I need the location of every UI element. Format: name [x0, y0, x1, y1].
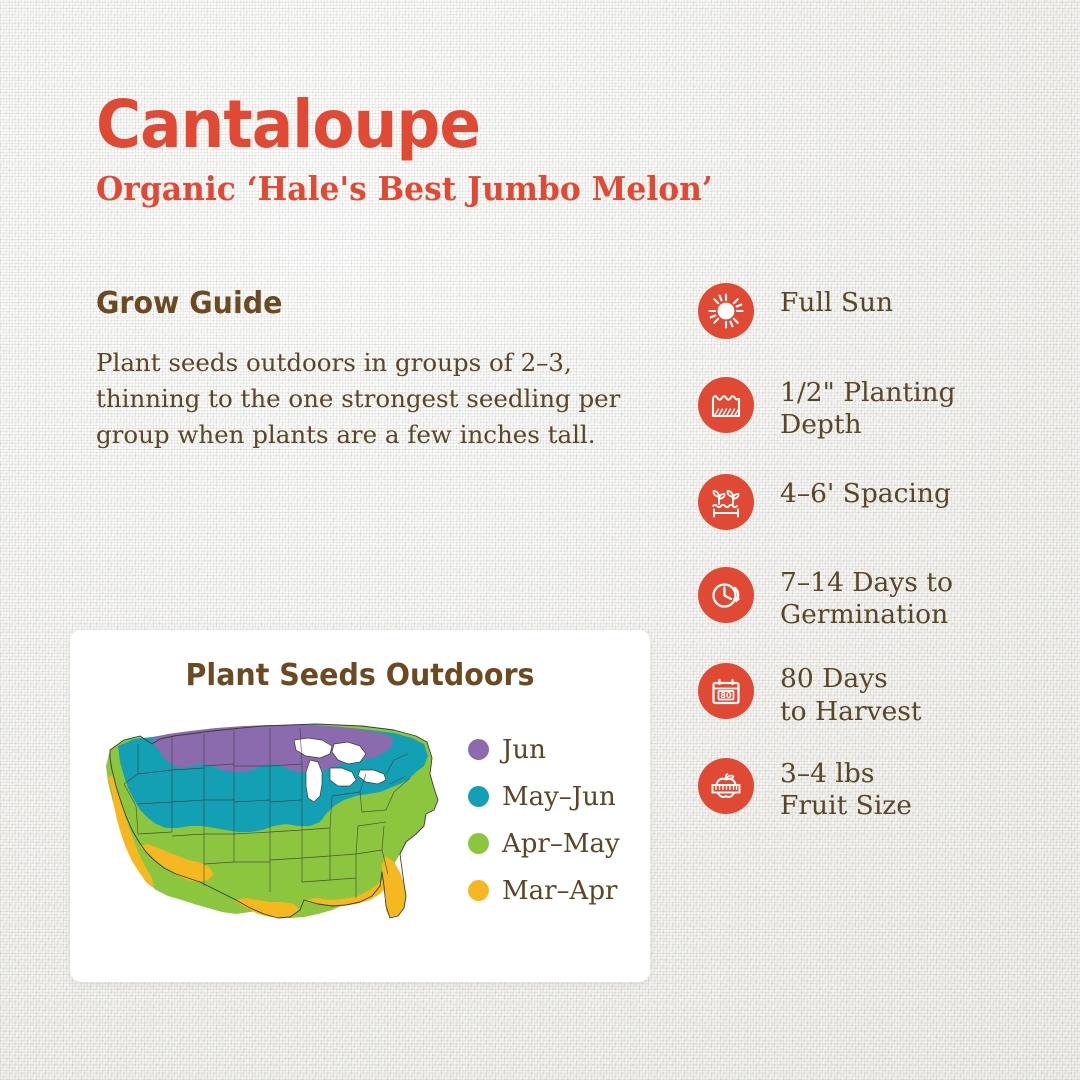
legend-item-apr-may: Apr–May [468, 820, 620, 867]
legend-dot-jun [468, 739, 489, 760]
map-card-title: Plant Seeds Outdoors [85, 658, 636, 693]
fact-germination: 7–14 Days to Germination [698, 567, 956, 632]
seed-packet-infographic: Cantaloupe Organic ‘Hale's Best Jumbo Me… [0, 0, 1080, 1080]
legend-dot-mar-apr [468, 880, 489, 901]
sun-icon [698, 283, 754, 339]
fact-label-full-sun: Full Sun [780, 283, 893, 319]
fact-spacing: 4–6' Spacing [698, 474, 956, 530]
growing-facts-list: Full Sun 1/2" Planting D [698, 283, 956, 839]
grow-guide-heading: Grow Guide [96, 286, 282, 321]
fruit-size-icon [698, 758, 754, 814]
fact-label-germination: 7–14 Days to Germination [780, 567, 953, 632]
page-title: Cantaloupe [96, 92, 480, 158]
calendar-badge-number: 80 [720, 691, 732, 701]
legend-dot-apr-may [468, 833, 489, 854]
fact-label-planting-depth: 1/2" Planting Depth [780, 377, 956, 442]
spacing-icon [698, 474, 754, 530]
legend-label-apr-may: Apr–May [502, 829, 620, 859]
usa-planting-zone-map [94, 714, 444, 929]
fact-label-spacing: 4–6' Spacing [780, 474, 951, 510]
grow-guide-body: Plant seeds outdoors in groups of 2–3, t… [96, 345, 656, 453]
legend-label-may-jun: May–Jun [502, 782, 616, 812]
fact-planting-depth: 1/2" Planting Depth [698, 377, 956, 442]
fact-fruit-size: 3–4 lbs Fruit Size [698, 758, 956, 823]
fact-full-sun: Full Sun [698, 283, 956, 339]
legend-item-may-jun: May–Jun [468, 773, 620, 820]
clock-icon [698, 567, 754, 623]
fact-label-harvest: 80 Days to Harvest [780, 663, 922, 728]
legend-dot-may-jun [468, 786, 489, 807]
legend-label-jun: Jun [502, 735, 546, 765]
map-legend: Jun May–Jun Apr–May Mar–Apr [468, 726, 620, 914]
legend-item-mar-apr: Mar–Apr [468, 867, 620, 914]
legend-label-mar-apr: Mar–Apr [502, 876, 617, 906]
plant-seeds-outdoors-card: Plant Seeds Outdoors [70, 630, 650, 982]
fact-harvest: 80 80 Days to Harvest [698, 663, 956, 728]
planting-depth-icon [698, 377, 754, 433]
fact-label-fruit-size: 3–4 lbs Fruit Size [780, 758, 912, 823]
calendar-icon: 80 [698, 663, 754, 719]
page-subtitle: Organic ‘Hale's Best Jumbo Melon’ [96, 172, 713, 205]
legend-item-jun: Jun [468, 726, 620, 773]
